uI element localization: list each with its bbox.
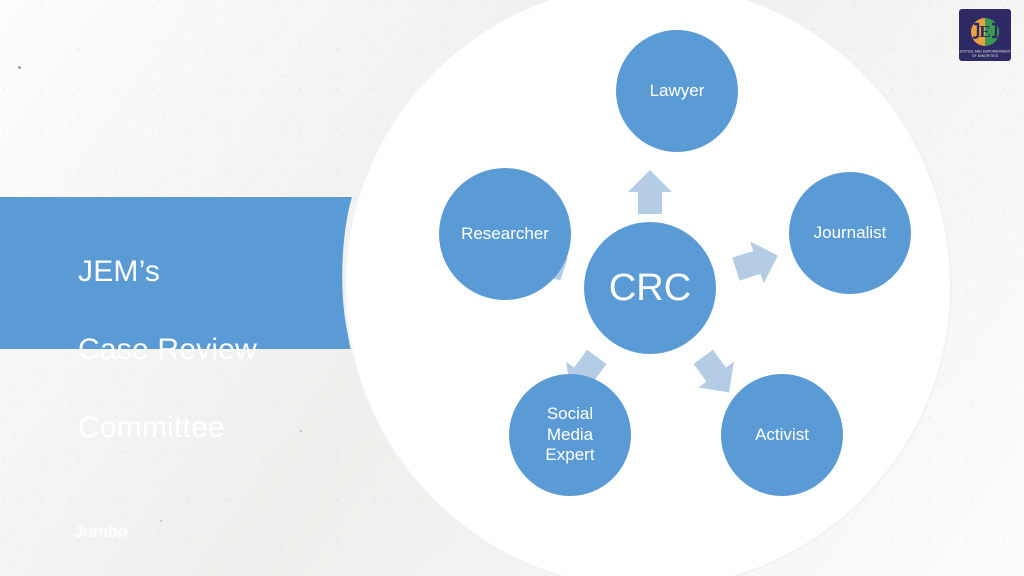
diagram-node-journalist[interactable]: Journalist: [789, 172, 911, 294]
title-line-2: Case Review: [78, 330, 378, 369]
jem-logo-tagline-line-1: JUSTICE AND EMPOWERMENT: [959, 50, 1010, 54]
jem-logo-tagline-line-2: OF MINORITIES: [972, 54, 999, 58]
diagram-node-activist[interactable]: Activist: [721, 374, 843, 496]
title-line-3: Committee: [78, 408, 378, 447]
texture-speck: [160, 520, 162, 522]
svg-text:E: E: [979, 22, 990, 41]
texture-speck: [18, 66, 21, 69]
diagram-node-activist-label: Activist: [755, 425, 809, 446]
crc-diagram: Lawyer Journalist Activist Social Media …: [344, 0, 956, 576]
diagram-node-journalist-label: Journalist: [814, 223, 887, 244]
title-text-block: JEM’s Case Review Committee: [78, 213, 378, 486]
diagram-node-researcher-label: Researcher: [461, 224, 549, 245]
title-banner: JEM’s Case Review Committee: [0, 197, 400, 349]
jem-logo-emblem-icon: E: [971, 18, 999, 46]
diagram-node-lawyer[interactable]: Lawyer: [616, 30, 738, 152]
diagram-node-social-media-expert-label: Social Media Expert: [545, 404, 594, 466]
slide-watermark: Jumbo: [74, 522, 127, 542]
title-line-1: JEM’s: [78, 252, 378, 291]
diagram-node-social-media-expert[interactable]: Social Media Expert: [509, 374, 631, 496]
presentation-slide: JEM’s Case Review Committee: [0, 0, 1024, 576]
diagram-node-crc-label: CRC: [609, 265, 691, 311]
jem-logo: E JUSTICE AND EMPOWERMENT OF MINORITIES: [958, 8, 1012, 62]
diagram-node-crc-center[interactable]: CRC: [584, 222, 716, 354]
diagram-node-researcher[interactable]: Researcher: [439, 168, 571, 300]
diagram-node-lawyer-label: Lawyer: [650, 81, 705, 102]
